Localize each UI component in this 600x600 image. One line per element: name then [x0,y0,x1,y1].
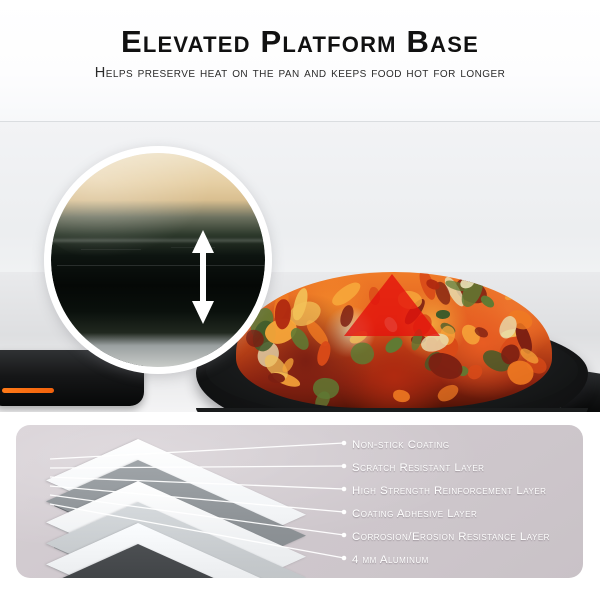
layers-panel: Non-stick Coating Scratch Resistant Laye… [16,425,583,578]
food-piece [268,373,285,383]
magnified-base-view [51,153,265,367]
food-piece [274,299,291,329]
page-subtitle: Helps preserve heat on the pan and keeps… [0,62,600,84]
layer-label-0: Non-stick Coating [352,439,450,451]
layer-label-3: Coating Adhesive Layer [352,508,477,520]
infographic-canvas: Elevated Platform Base Helps preserve he… [0,0,600,600]
food-piece [435,380,461,404]
herb-piece [383,334,405,355]
leader-line [50,495,344,535]
surface-line-b [81,249,141,250]
leader-line [50,477,344,489]
footer-strip [0,578,600,600]
leader-line [50,486,344,512]
leader-arrowhead [342,487,347,492]
leader-arrowhead [342,441,347,446]
layer-label-2: High Strength Reinforcement Layer [352,485,546,497]
height-arrow-icon [190,230,216,324]
herb-piece [479,294,497,310]
food-piece [280,355,295,373]
leader-arrowhead [342,464,347,469]
leader-arrowhead [342,510,347,515]
leader-line [50,466,344,468]
page-title: Elevated Platform Base [0,22,600,62]
leader-arrowhead [342,533,347,538]
layer-label-4: Corrosion/Erosion Resistance Layer [352,531,550,543]
food-piece [393,389,411,403]
red-triangle-up-icon [344,274,440,336]
food-piece [315,340,333,367]
food-piece [425,350,465,382]
food-piece [466,364,484,381]
leader-line [50,504,344,558]
layer-label-5: 4 mm Aluminum [352,554,429,566]
leader-lines [16,425,583,578]
leader-line [50,443,344,459]
surface-line-a [57,265,265,266]
magnifier-callout [44,146,272,374]
layer-label-1: Scratch Resistant Layer [352,462,484,474]
leader-arrowhead [342,556,347,561]
handle-accent-stripe [2,388,54,393]
